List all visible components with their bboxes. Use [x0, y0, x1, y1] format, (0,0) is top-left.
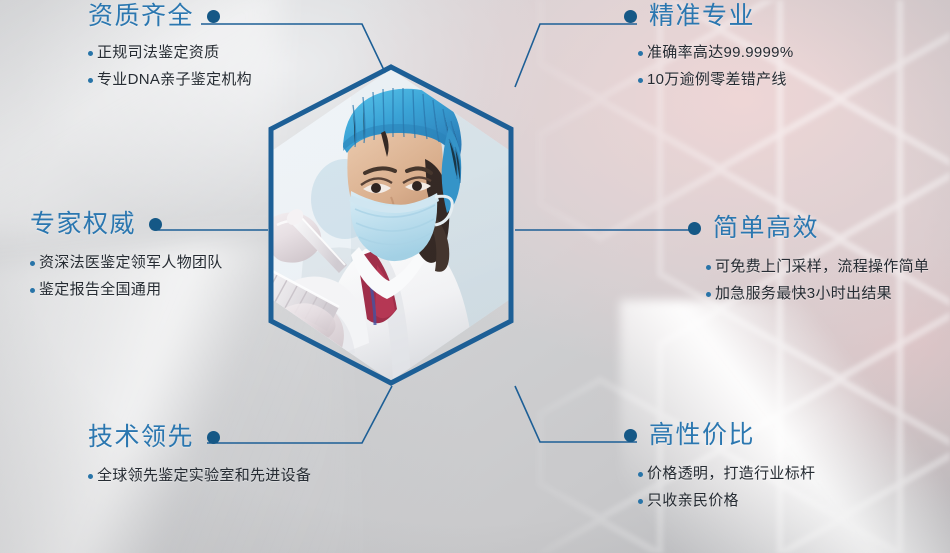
feature-heading-row: 高性价比	[624, 423, 815, 448]
connector-dot-icon	[207, 10, 220, 23]
feature-simple: 简单高效 可免费上门采样，流程操作简单 加急服务最快3小时出结果	[712, 216, 929, 304]
feature-heading-expert: 专家权威	[30, 212, 136, 237]
feature-precision: 精准专业 准确率高达99.9999% 10万逾例零差错产线	[648, 4, 793, 90]
bullet-text: 价格透明，打造行业标杆	[647, 464, 815, 484]
list-item: 准确率高达99.9999%	[638, 43, 793, 63]
feature-expert: 专家权威 资深法医鉴定领军人物团队 鉴定报告全国通用	[30, 212, 223, 300]
feature-heading-row: 精准专业	[624, 4, 793, 29]
bullet-text: 鉴定报告全国通用	[39, 280, 161, 300]
feature-value: 高性价比 价格透明，打造行业标杆 只收亲民价格	[648, 423, 815, 511]
feature-bullet-list: 可免费上门采样，流程操作简单 加急服务最快3小时出结果	[706, 257, 929, 304]
connector-top-right	[515, 24, 637, 87]
list-item: 可免费上门采样，流程操作简单	[706, 257, 929, 277]
bullet-text: 加急服务最快3小时出结果	[715, 284, 892, 304]
bullet-text: 只收亲民价格	[647, 491, 739, 511]
feature-heading-qualification: 资质齐全	[88, 4, 194, 29]
feature-bullet-list: 全球领先鉴定实验室和先进设备	[88, 466, 311, 486]
bullet-dot-icon	[88, 51, 93, 56]
feature-tech: 技术领先 全球领先鉴定实验室和先进设备	[88, 425, 311, 486]
feature-qualification: 资质齐全 正规司法鉴定资质 专业DNA亲子鉴定机构	[88, 4, 252, 90]
bullet-text: 资深法医鉴定领军人物团队	[39, 253, 223, 273]
center-hexagon-photo	[267, 63, 515, 387]
bullet-dot-icon	[706, 292, 711, 297]
bullet-dot-icon	[88, 78, 93, 83]
list-item: 全球领先鉴定实验室和先进设备	[88, 466, 311, 486]
feature-heading-tech: 技术领先	[88, 425, 194, 450]
bullet-dot-icon	[30, 261, 35, 266]
bullet-text: 全球领先鉴定实验室和先进设备	[97, 466, 311, 486]
bullet-text: 准确率高达99.9999%	[647, 43, 793, 63]
feature-heading-simple: 简单高效	[713, 216, 819, 241]
list-item: 加急服务最快3小时出结果	[706, 284, 929, 304]
connector-dot-icon	[149, 218, 162, 231]
connector-dot-icon	[624, 10, 637, 23]
list-item: 专业DNA亲子鉴定机构	[88, 70, 252, 90]
bullet-text: 正规司法鉴定资质	[97, 43, 219, 63]
bullet-dot-icon	[706, 265, 711, 270]
bullet-dot-icon	[638, 51, 643, 56]
infographic-canvas: 资质齐全 正规司法鉴定资质 专业DNA亲子鉴定机构 精准专业 准确率高达99.9…	[0, 0, 950, 553]
feature-heading-row: 资质齐全	[88, 4, 252, 29]
bullet-dot-icon	[638, 472, 643, 477]
feature-bullet-list: 资深法医鉴定领军人物团队 鉴定报告全国通用	[30, 253, 223, 300]
list-item: 资深法医鉴定领军人物团队	[30, 253, 223, 273]
connector-dot-icon	[688, 222, 701, 235]
list-item: 价格透明，打造行业标杆	[638, 464, 815, 484]
bullet-text: 专业DNA亲子鉴定机构	[97, 70, 252, 90]
connector-dot-icon	[207, 431, 220, 444]
feature-bullet-list: 准确率高达99.9999% 10万逾例零差错产线	[638, 43, 793, 90]
feature-heading-precision: 精准专业	[649, 4, 755, 29]
feature-heading-row: 技术领先	[88, 425, 311, 450]
feature-heading-row: 简单高效	[688, 216, 929, 241]
feature-bullet-list: 正规司法鉴定资质 专业DNA亲子鉴定机构	[88, 43, 252, 90]
list-item: 正规司法鉴定资质	[88, 43, 252, 63]
list-item: 鉴定报告全国通用	[30, 280, 223, 300]
list-item: 10万逾例零差错产线	[638, 70, 793, 90]
bullet-dot-icon	[638, 78, 643, 83]
bullet-text: 可免费上门采样，流程操作简单	[715, 257, 929, 277]
feature-heading-value: 高性价比	[649, 423, 755, 448]
bullet-dot-icon	[88, 474, 93, 479]
bullet-text: 10万逾例零差错产线	[647, 70, 787, 90]
bullet-dot-icon	[30, 288, 35, 293]
feature-heading-row: 专家权威	[30, 212, 223, 237]
bullet-dot-icon	[638, 499, 643, 504]
feature-bullet-list: 价格透明，打造行业标杆 只收亲民价格	[638, 464, 815, 511]
connector-bottom-right	[515, 386, 637, 442]
connector-dot-icon	[624, 429, 637, 442]
list-item: 只收亲民价格	[638, 491, 815, 511]
